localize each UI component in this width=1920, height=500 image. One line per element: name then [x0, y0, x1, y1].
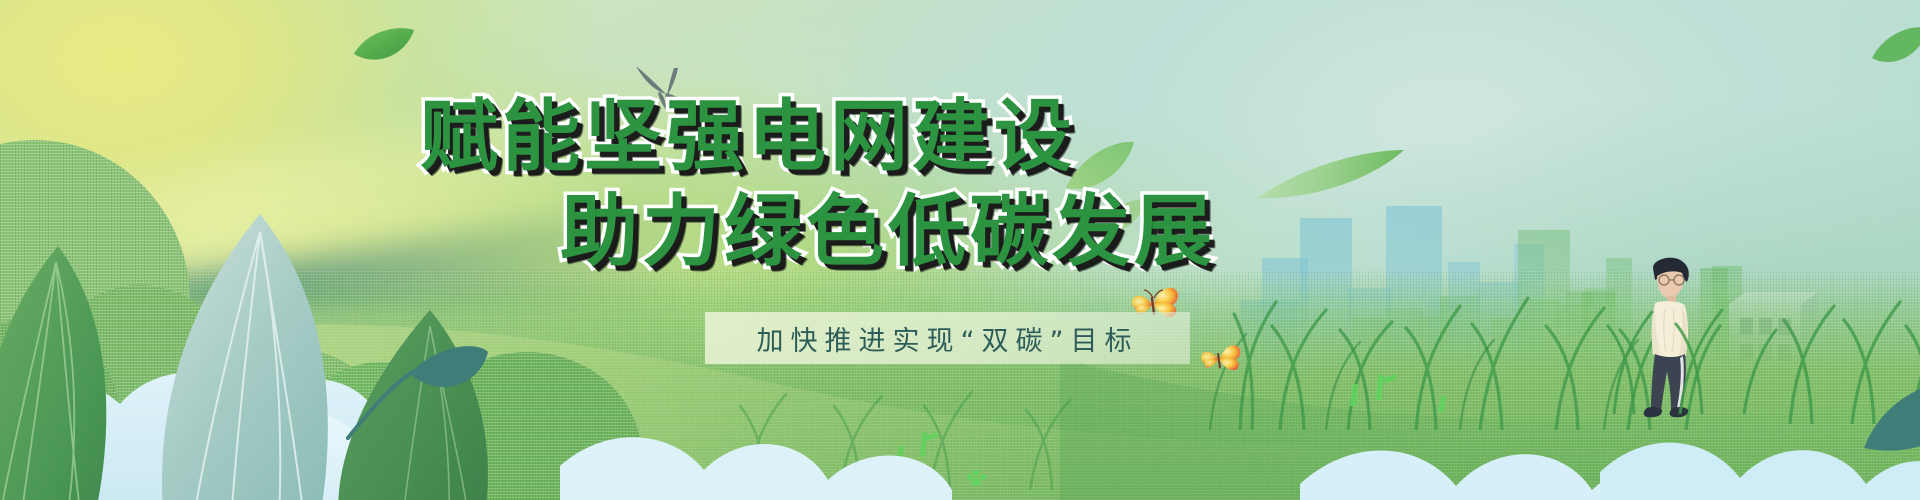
- butterfly-icon: [1196, 340, 1242, 378]
- leaf-icon: [1870, 24, 1920, 70]
- subtitle-text: 加快推进实现“双碳”目标: [705, 312, 1190, 364]
- leaf-icon: [1062, 138, 1136, 194]
- swallow-icon: [630, 62, 700, 114]
- cloud-cluster-center: [560, 370, 1080, 500]
- leaf-icon: [330, 290, 490, 440]
- banner-illustration: 赋能坚强电网建设 助力绿色低碳发展 加快推进实现“双碳”目标: [0, 0, 1920, 500]
- leaf-icon: [1088, 196, 1148, 240]
- leaf-icon: [1860, 356, 1920, 466]
- leaf-icon: [1256, 148, 1406, 202]
- grass-blade-cluster-person: [1598, 264, 1778, 414]
- leaf-icon: [352, 24, 416, 68]
